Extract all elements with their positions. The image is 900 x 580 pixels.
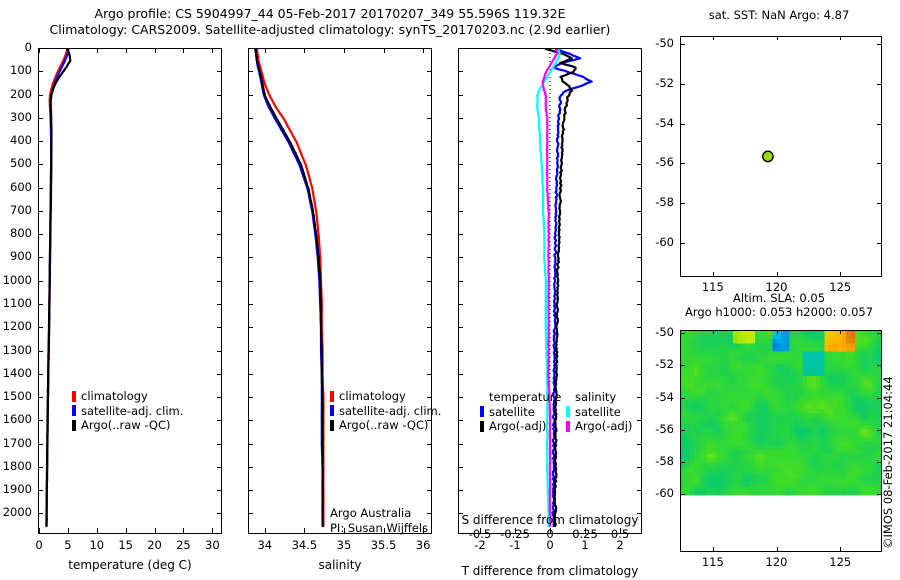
axis-tick-mark	[248, 95, 253, 96]
legend-label: satellite-adj. clim.	[339, 404, 441, 419]
axis-tick-label: -54	[474, 390, 674, 404]
axis-tick-label: -50	[474, 325, 674, 339]
legend-item: satellite	[480, 405, 561, 420]
title-line-1: Argo profile: CS 5904997_44 05-Feb-2017 …	[0, 6, 660, 22]
axis-tick-label: 1400	[0, 366, 32, 380]
axis-tick-mark	[427, 444, 432, 445]
axis-tick-mark	[713, 330, 714, 334]
axis-tick-mark	[680, 430, 685, 431]
legend-label: Argo(..raw -QC)	[81, 418, 171, 433]
axis-tick-mark	[637, 211, 642, 212]
axis-tick-mark	[637, 71, 642, 72]
axis-tick-mark	[248, 490, 253, 491]
axis-tick-mark	[38, 490, 43, 491]
axis-tick-label: 1100	[0, 296, 32, 310]
legend-swatch-climatology	[72, 391, 76, 402]
axis-tick-mark	[458, 118, 463, 119]
legend-item: Argo(..raw -QC)	[330, 418, 441, 433]
legend-swatch-argo-raw	[72, 420, 76, 431]
salinity-difference-label: S difference from climatology	[450, 513, 650, 527]
axis-tick-mark	[248, 304, 253, 305]
axis-tick-label: -52	[474, 76, 674, 90]
axis-tick-label: 300	[0, 110, 32, 124]
axis-tick-mark	[427, 351, 432, 352]
salinity-legend: climatology satellite-adj. clim. Argo(..…	[330, 389, 441, 433]
axis-tick-mark	[840, 330, 841, 334]
legend-swatch-climatology	[330, 391, 334, 402]
axis-tick-mark	[458, 95, 463, 96]
legend-swatch-sal-satellite	[566, 406, 570, 417]
axis-tick-mark	[217, 95, 222, 96]
axis-tick-mark	[38, 304, 43, 305]
axis-tick-mark	[458, 48, 463, 49]
axis-tick-mark	[427, 327, 432, 328]
axis-tick-mark	[212, 48, 213, 53]
axis-tick-label: 1200	[0, 319, 32, 333]
axis-tick-mark	[217, 234, 222, 235]
axis-tick-mark	[217, 397, 222, 398]
axis-tick-mark	[877, 333, 882, 334]
axis-tick-mark	[183, 528, 184, 533]
axis-tick-mark	[427, 95, 432, 96]
temperature-profile-plot	[39, 49, 221, 533]
sla-map-axes	[680, 330, 882, 552]
legend-label: satellite-adj. clim.	[81, 404, 183, 419]
temperature-xaxis-label: temperature (deg C)	[38, 558, 222, 572]
axis-tick-mark	[877, 124, 882, 125]
axis-tick-mark	[458, 490, 463, 491]
axis-tick-mark	[248, 420, 253, 421]
legend-label: climatology	[339, 389, 406, 404]
axis-tick-label: -56	[474, 422, 674, 436]
salinity-xaxis-label: salinity	[248, 558, 432, 572]
axis-tick-mark	[248, 141, 253, 142]
axis-tick-mark	[713, 36, 714, 40]
axis-tick-mark	[840, 272, 841, 276]
axis-tick-mark	[637, 95, 642, 96]
axis-tick-mark	[637, 257, 642, 258]
legend-swatch-satellite-clim	[72, 405, 76, 416]
axis-tick-mark	[248, 211, 253, 212]
axis-tick-mark	[877, 44, 882, 45]
axis-tick-mark	[38, 234, 43, 235]
axis-tick-mark	[217, 118, 222, 119]
axis-tick-mark	[458, 420, 463, 421]
axis-tick-mark	[680, 44, 685, 45]
axis-tick-mark	[248, 188, 253, 189]
axis-tick-mark	[637, 188, 642, 189]
legend-label: satellite	[575, 405, 621, 420]
axis-tick-label: 1000	[0, 273, 32, 287]
axis-tick-mark	[217, 257, 222, 258]
axis-tick-mark	[427, 164, 432, 165]
axis-tick-mark	[304, 528, 305, 533]
axis-tick-mark	[458, 444, 463, 445]
axis-tick-mark	[217, 490, 222, 491]
axis-tick-mark	[427, 467, 432, 468]
axis-tick-mark	[637, 374, 642, 375]
axis-tick-label: -54	[474, 116, 674, 130]
axis-tick-mark	[217, 48, 222, 49]
axis-tick-mark	[427, 71, 432, 72]
figure-title: Argo profile: CS 5904997_44 05-Feb-2017 …	[0, 6, 660, 38]
axis-tick-label: 200	[0, 87, 32, 101]
axis-tick-label: 700	[0, 203, 32, 217]
axis-tick-mark	[680, 243, 685, 244]
axis-tick-mark	[427, 141, 432, 142]
axis-tick-label: 1500	[0, 389, 32, 403]
axis-tick-mark	[217, 513, 222, 514]
axis-tick-label: 100	[0, 63, 32, 77]
axis-tick-mark	[680, 494, 685, 495]
axis-tick-mark	[248, 164, 253, 165]
axis-tick-mark	[877, 203, 882, 204]
axis-tick-label: 500	[0, 156, 32, 170]
axis-tick-mark	[637, 304, 642, 305]
axis-tick-mark	[427, 257, 432, 258]
axis-tick-mark	[680, 365, 685, 366]
sst-map-header: sat. SST: NaN Argo: 4.87	[668, 8, 890, 22]
axis-tick-mark	[458, 164, 463, 165]
axis-tick-label: 400	[0, 133, 32, 147]
axis-tick-mark	[637, 281, 642, 282]
axis-tick-mark	[680, 398, 685, 399]
axis-tick-mark	[248, 374, 253, 375]
axis-tick-mark	[38, 420, 43, 421]
axis-tick-mark	[427, 118, 432, 119]
salinity-profile-axes	[248, 48, 432, 534]
axis-tick-mark	[427, 374, 432, 375]
axis-tick-mark	[38, 164, 43, 165]
axis-tick-label: 600	[0, 180, 32, 194]
axis-tick-mark	[38, 188, 43, 189]
axis-tick-mark	[97, 48, 98, 53]
axis-tick-label: 2000	[0, 505, 32, 519]
axis-tick-mark	[458, 71, 463, 72]
axis-tick-mark	[680, 333, 685, 334]
axis-tick-label: 0.5	[580, 527, 660, 541]
axis-tick-mark	[344, 48, 345, 53]
sst-map-plot	[681, 37, 881, 276]
axis-tick-mark	[217, 444, 222, 445]
axis-tick-mark	[458, 397, 463, 398]
axis-tick-label: 1700	[0, 436, 32, 450]
axis-tick-mark	[155, 528, 156, 533]
axis-tick-mark	[126, 48, 127, 53]
axis-tick-mark	[248, 257, 253, 258]
sla-map-plot	[681, 331, 881, 551]
axis-tick-mark	[427, 304, 432, 305]
axis-tick-label: -60	[474, 235, 674, 249]
axis-tick-label: -58	[474, 454, 674, 468]
axis-tick-mark	[38, 467, 43, 468]
axis-tick-mark	[38, 141, 43, 142]
sla-header-line-1: Altim. SLA: 0.05	[668, 291, 890, 305]
axis-tick-mark	[458, 351, 463, 352]
axis-tick-mark	[217, 188, 222, 189]
axis-tick-mark	[458, 211, 463, 212]
axis-tick-mark	[458, 467, 463, 468]
axis-tick-mark	[877, 365, 882, 366]
axis-tick-label: 1300	[0, 343, 32, 357]
axis-tick-mark	[427, 48, 432, 49]
axis-tick-mark	[217, 351, 222, 352]
axis-tick-mark	[877, 243, 882, 244]
axis-tick-mark	[458, 188, 463, 189]
axis-tick-mark	[248, 234, 253, 235]
legend-item: satellite-adj. clim.	[72, 404, 183, 419]
axis-tick-mark	[458, 141, 463, 142]
axis-tick-mark	[265, 48, 266, 53]
axis-tick-mark	[427, 490, 432, 491]
axis-tick-mark	[713, 547, 714, 551]
axis-tick-mark	[217, 71, 222, 72]
axis-tick-mark	[248, 48, 253, 49]
axis-tick-mark	[304, 48, 305, 53]
axis-tick-mark	[38, 513, 43, 514]
axis-tick-label: -60	[474, 486, 674, 500]
axis-tick-mark	[777, 272, 778, 276]
legend-swatch-argo-raw	[330, 420, 334, 431]
axis-tick-mark	[248, 327, 253, 328]
axis-tick-mark	[248, 281, 253, 282]
legend-item: satellite-adj. clim.	[330, 404, 441, 419]
axis-tick-mark	[777, 330, 778, 334]
axis-tick-mark	[38, 211, 43, 212]
axis-tick-mark	[458, 304, 463, 305]
axis-tick-mark	[777, 36, 778, 40]
axis-tick-mark	[38, 327, 43, 328]
legend-item: Argo(..raw -QC)	[72, 418, 183, 433]
axis-tick-mark	[38, 95, 43, 96]
axis-tick-mark	[248, 467, 253, 468]
temperature-difference-label: T difference from climatology	[450, 564, 650, 578]
axis-tick-mark	[97, 528, 98, 533]
axis-tick-label: 0	[0, 40, 32, 54]
axis-tick-label: 1800	[0, 459, 32, 473]
axis-tick-mark	[637, 444, 642, 445]
axis-tick-label: -58	[474, 195, 674, 209]
legend-swatch-satellite-clim	[330, 405, 334, 416]
axis-tick-mark	[217, 211, 222, 212]
axis-tick-mark	[38, 351, 43, 352]
axis-tick-mark	[68, 48, 69, 53]
axis-tick-label: 900	[0, 249, 32, 263]
legend-label: Argo(..raw -QC)	[339, 418, 429, 433]
sla-map-header: Altim. SLA: 0.05 Argo h1000: 0.053 h2000…	[668, 291, 890, 319]
axis-tick-mark	[265, 528, 266, 533]
axis-tick-mark	[840, 547, 841, 551]
axis-tick-label: 125	[800, 555, 880, 569]
legend-item: climatology	[330, 389, 441, 404]
axis-tick-mark	[680, 124, 685, 125]
temperature-legend: climatology satellite-adj. clim. Argo(..…	[72, 389, 183, 433]
temperature-profile-axes	[38, 48, 222, 534]
axis-tick-mark	[427, 188, 432, 189]
axis-tick-mark	[427, 234, 432, 235]
legend-label: satellite	[489, 405, 535, 420]
axis-tick-mark	[458, 234, 463, 235]
legend-swatch-temp-satellite	[480, 406, 484, 417]
axis-tick-mark	[248, 444, 253, 445]
axis-tick-mark	[840, 36, 841, 40]
salinity-profile-plot	[249, 49, 431, 533]
axis-tick-mark	[38, 71, 43, 72]
axis-tick-mark	[680, 163, 685, 164]
sst-map-axes	[680, 36, 882, 277]
axis-tick-mark	[217, 327, 222, 328]
axis-tick-mark	[423, 48, 424, 53]
axis-tick-mark	[458, 327, 463, 328]
axis-tick-mark	[248, 513, 253, 514]
axis-tick-mark	[680, 203, 685, 204]
axis-tick-mark	[126, 528, 127, 533]
axis-tick-mark	[637, 141, 642, 142]
legend-item: climatology	[72, 389, 183, 404]
axis-tick-mark	[458, 281, 463, 282]
axis-tick-label: 800	[0, 226, 32, 240]
axis-tick-mark	[38, 281, 43, 282]
axis-tick-mark	[155, 48, 156, 53]
axis-tick-mark	[217, 420, 222, 421]
axis-tick-label: -52	[474, 357, 674, 371]
axis-tick-mark	[427, 281, 432, 282]
axis-tick-mark	[384, 48, 385, 53]
axis-tick-mark	[212, 528, 213, 533]
axis-tick-label: 1900	[0, 482, 32, 496]
axis-tick-mark	[38, 444, 43, 445]
axis-tick-mark	[39, 528, 40, 533]
axis-tick-label: -50	[474, 36, 674, 50]
legend-label: climatology	[81, 389, 148, 404]
imos-credit: ©IMOS 08-Feb-2017 21:04:44	[881, 376, 895, 549]
axis-tick-mark	[38, 397, 43, 398]
axis-tick-mark	[217, 281, 222, 282]
axis-tick-mark	[877, 163, 882, 164]
argo-australia-attribution: Argo Australia PI: Susan Wijffels	[330, 506, 428, 535]
attribution-line-1: Argo Australia	[330, 506, 428, 521]
axis-tick-mark	[637, 351, 642, 352]
axis-tick-mark	[248, 71, 253, 72]
axis-tick-mark	[680, 462, 685, 463]
axis-tick-mark	[248, 118, 253, 119]
axis-tick-mark	[458, 257, 463, 258]
axis-tick-mark	[217, 141, 222, 142]
axis-tick-mark	[458, 374, 463, 375]
axis-tick-mark	[38, 374, 43, 375]
attribution-line-2: PI: Susan Wijffels	[330, 521, 428, 536]
axis-tick-mark	[777, 547, 778, 551]
legend-item: satellite	[566, 405, 632, 420]
axis-tick-mark	[217, 467, 222, 468]
axis-tick-mark	[248, 397, 253, 398]
axis-tick-label: 1600	[0, 412, 32, 426]
axis-tick-mark	[713, 272, 714, 276]
axis-tick-mark	[217, 164, 222, 165]
axis-tick-mark	[427, 211, 432, 212]
axis-tick-mark	[38, 118, 43, 119]
axis-tick-mark	[183, 48, 184, 53]
axis-tick-mark	[38, 257, 43, 258]
axis-tick-mark	[217, 304, 222, 305]
axis-tick-mark	[248, 351, 253, 352]
axis-tick-mark	[39, 48, 40, 53]
sla-header-line-2: Argo h1000: 0.053 h2000: 0.057	[668, 305, 890, 319]
axis-tick-label: -56	[474, 155, 674, 169]
axis-tick-mark	[680, 84, 685, 85]
axis-tick-mark	[68, 528, 69, 533]
axis-tick-mark	[877, 84, 882, 85]
axis-tick-mark	[217, 374, 222, 375]
